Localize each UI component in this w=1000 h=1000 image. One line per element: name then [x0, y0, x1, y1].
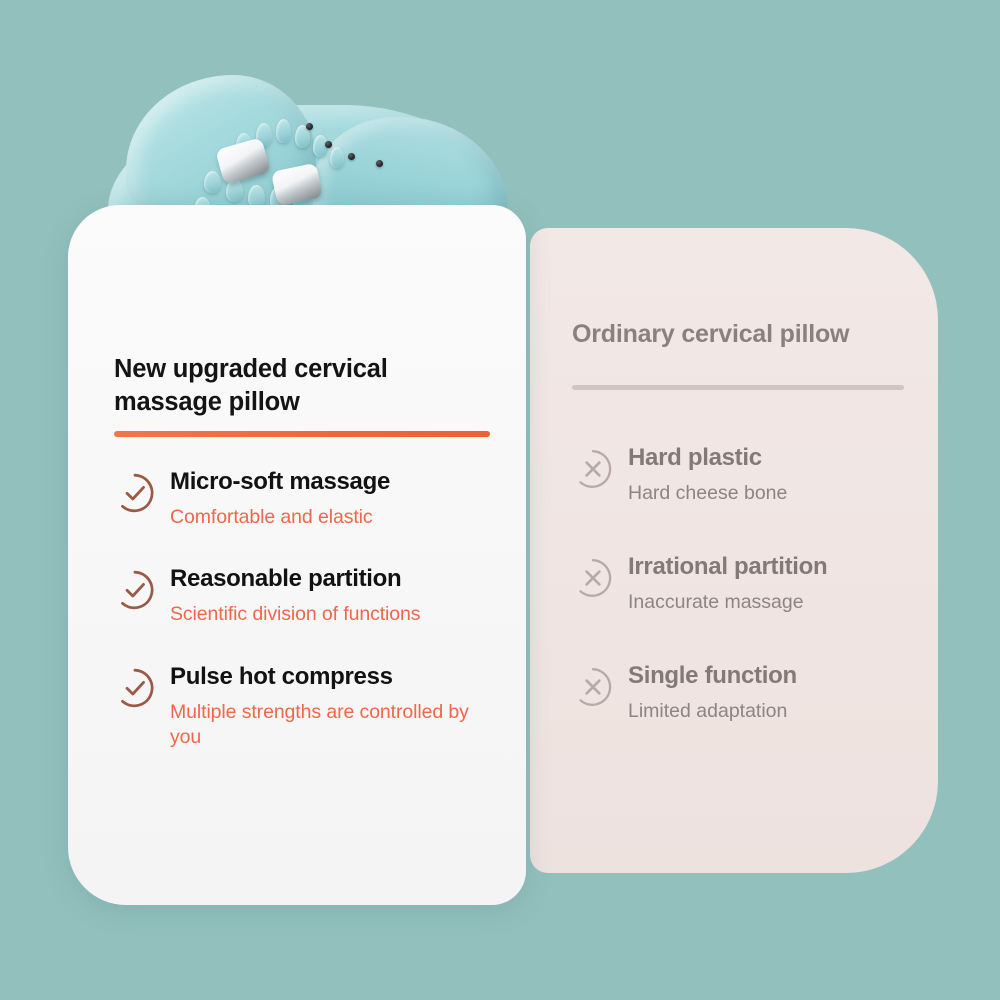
acupoint-stud: [376, 160, 383, 167]
page-title: New upgraded cervical massage pillow: [114, 353, 500, 418]
list-item-title: Micro-soft massage: [170, 469, 500, 496]
check-circle-icon: [114, 469, 168, 519]
list-item: Micro-soft massage Comfortable and elast…: [114, 469, 500, 530]
list-item-subtitle: Limited adaptation: [628, 699, 914, 724]
list-item: Pulse hot compress Multiple strengths ar…: [114, 664, 500, 751]
acupoint-stud: [306, 123, 313, 130]
check-circle-icon: [114, 566, 168, 616]
list-item-subtitle: Multiple strengths are controlled by you: [170, 700, 500, 751]
list-item-title: Hard plastic: [628, 445, 914, 472]
list-item-title: Pulse hot compress: [170, 664, 500, 691]
list-item-subtitle: Comfortable and elastic: [170, 505, 500, 530]
cross-circle-icon: [572, 663, 626, 713]
list-item-title: Reasonable partition: [170, 566, 500, 593]
acupoint-stud: [348, 153, 355, 160]
ordinary-card-title: Ordinary cervical pillow: [572, 320, 914, 349]
list-item: Hard plastic Hard cheese bone: [572, 445, 914, 506]
list-item-title: Irrational partition: [628, 554, 914, 581]
title-underline-accent: [114, 431, 490, 437]
list-item-title: Single function: [628, 663, 914, 690]
cross-circle-icon: [572, 445, 626, 495]
ordinary-feature-list: Hard plastic Hard cheese bone Irrational…: [572, 445, 914, 725]
list-item: Reasonable partition Scientific division…: [114, 566, 500, 627]
massage-nub: [276, 119, 291, 143]
ordinary-product-card: Ordinary cervical pillow Hard plastic Ha…: [530, 228, 938, 873]
list-item-subtitle: Scientific division of functions: [170, 602, 500, 627]
list-item-subtitle: Inaccurate massage: [628, 590, 914, 615]
acupoint-stud: [325, 141, 332, 148]
massage-nub: [330, 147, 344, 168]
check-circle-icon: [114, 664, 168, 714]
new-product-feature-list: Micro-soft massage Comfortable and elast…: [114, 469, 500, 750]
list-item: Irrational partition Inaccurate massage: [572, 554, 914, 615]
list-item-subtitle: Hard cheese bone: [628, 481, 914, 506]
massage-nub: [204, 171, 221, 193]
list-item: Single function Limited adaptation: [572, 663, 914, 724]
cross-circle-icon: [572, 554, 626, 604]
new-product-card: New upgraded cervical massage pillow Mic…: [68, 205, 526, 905]
ordinary-title-divider: [572, 385, 904, 390]
